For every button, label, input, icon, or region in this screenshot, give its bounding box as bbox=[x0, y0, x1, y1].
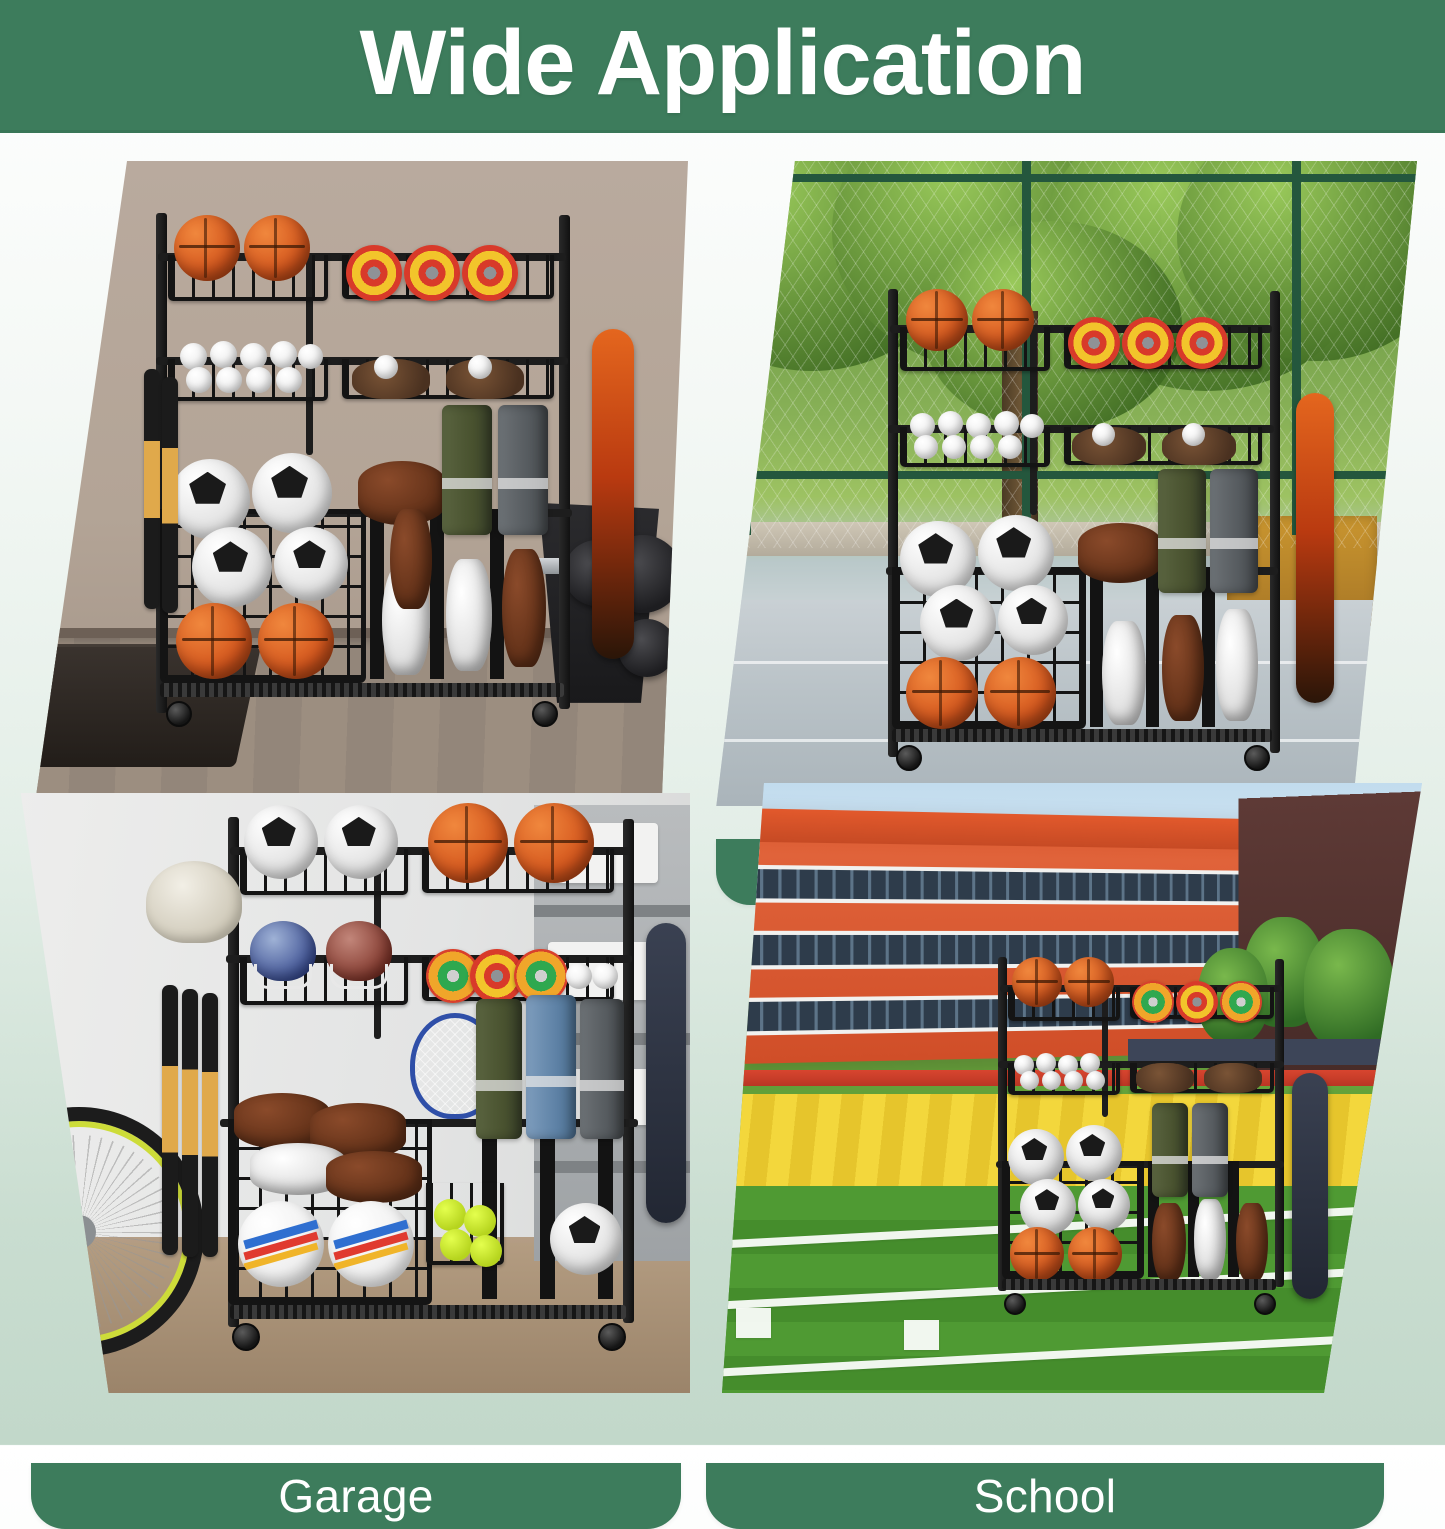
soccer-ball bbox=[274, 527, 348, 601]
baseball bbox=[914, 435, 938, 459]
flying-disc bbox=[404, 245, 460, 301]
caster-wheel bbox=[532, 701, 558, 727]
helmet-facemask bbox=[330, 964, 388, 989]
panel-label-text: Garage bbox=[278, 1469, 433, 1523]
baseball bbox=[216, 367, 242, 393]
yoga-mat bbox=[442, 405, 492, 535]
bin-divider bbox=[1146, 567, 1159, 727]
panel-school-photo bbox=[722, 783, 1422, 1393]
basketball bbox=[984, 657, 1056, 729]
yoga-mat bbox=[580, 999, 624, 1139]
baseball-bat bbox=[202, 993, 218, 1257]
baseball bbox=[186, 367, 212, 393]
skateboard bbox=[1296, 393, 1334, 703]
football bbox=[1162, 615, 1204, 721]
soccer-ball bbox=[978, 515, 1054, 591]
caster-wheel bbox=[896, 745, 922, 771]
baseball bbox=[298, 344, 323, 369]
fence-rail bbox=[702, 174, 1417, 182]
bin-divider bbox=[540, 1119, 555, 1299]
baseball bbox=[1064, 1071, 1083, 1090]
tennis-ball bbox=[464, 1205, 496, 1237]
yard-line bbox=[736, 1308, 771, 1338]
caster-wheel bbox=[1244, 745, 1270, 771]
skateboard bbox=[1292, 1073, 1328, 1299]
sports-storage-rack bbox=[990, 953, 1290, 1299]
baseball bbox=[270, 341, 297, 368]
basketball bbox=[972, 289, 1034, 351]
skateboard bbox=[592, 329, 634, 659]
panel-garage-photo bbox=[14, 793, 690, 1393]
basketball bbox=[428, 803, 508, 883]
match-soccer-ball bbox=[328, 1201, 414, 1287]
baseball-bat bbox=[162, 377, 178, 613]
panel-school[interactable] bbox=[722, 783, 1422, 1393]
rack-bottom-tray bbox=[160, 683, 564, 697]
baseball bbox=[1182, 423, 1205, 446]
baseball bbox=[942, 435, 966, 459]
baseball bbox=[276, 367, 302, 393]
flying-disc bbox=[1068, 317, 1120, 369]
skateboard bbox=[646, 923, 686, 1223]
baseball bbox=[998, 435, 1022, 459]
baseball bbox=[210, 341, 237, 368]
bin-divider bbox=[1090, 567, 1103, 727]
baseball bbox=[592, 963, 618, 989]
caster-wheel bbox=[1254, 1293, 1276, 1315]
football bbox=[1102, 621, 1146, 725]
soccer-ball bbox=[1066, 1125, 1122, 1181]
football bbox=[1236, 1203, 1268, 1281]
match-soccer-ball bbox=[238, 1201, 324, 1287]
panel-home-gym[interactable] bbox=[28, 161, 688, 806]
baseball bbox=[1042, 1071, 1061, 1090]
soccer-ball bbox=[1078, 1179, 1130, 1231]
baseball bbox=[910, 413, 935, 438]
rack-bottom-tray bbox=[230, 1305, 626, 1319]
flying-disc bbox=[1176, 317, 1228, 369]
tennis-ball bbox=[440, 1229, 472, 1261]
yoga-mat bbox=[476, 999, 522, 1139]
baseball bbox=[180, 343, 207, 370]
tennis-ball bbox=[470, 1235, 502, 1267]
baseball bbox=[1020, 414, 1044, 438]
soccer-ball bbox=[192, 527, 272, 607]
application-panel-grid: Home Gym bbox=[0, 133, 1445, 1445]
helmet-facemask bbox=[254, 964, 312, 989]
rack-upright-right bbox=[1275, 959, 1284, 1287]
football bbox=[1152, 1203, 1186, 1281]
baseball bbox=[240, 343, 267, 370]
basketball bbox=[1068, 1227, 1122, 1281]
sports-storage-rack bbox=[146, 209, 576, 729]
baseball-glove bbox=[1204, 1063, 1262, 1093]
soccer-ball bbox=[324, 805, 398, 879]
baseball bbox=[566, 963, 592, 989]
flying-disc bbox=[462, 245, 518, 301]
sports-storage-rack bbox=[880, 285, 1286, 773]
soccer-ball bbox=[1008, 1129, 1064, 1185]
yoga-mat bbox=[526, 995, 576, 1139]
sports-storage-rack bbox=[214, 803, 644, 1343]
bin-divider bbox=[370, 509, 384, 679]
rack-bottom-tray bbox=[1002, 1279, 1276, 1290]
baseball bbox=[1086, 1071, 1105, 1090]
baseball bbox=[1080, 1053, 1100, 1073]
basketball bbox=[906, 289, 968, 351]
panel-label-school: School bbox=[706, 1463, 1384, 1529]
caster-wheel bbox=[166, 701, 192, 727]
caster-wheel bbox=[598, 1323, 626, 1351]
basketball bbox=[174, 215, 240, 281]
flying-disc bbox=[1132, 981, 1174, 1023]
football bbox=[502, 549, 546, 667]
flying-disc bbox=[1122, 317, 1174, 369]
baseball bbox=[1092, 423, 1115, 446]
yoga-mat bbox=[498, 405, 548, 535]
yoga-mat bbox=[1210, 469, 1258, 593]
baseball bbox=[374, 355, 398, 379]
panel-label-text: School bbox=[974, 1469, 1116, 1523]
flying-disc bbox=[346, 245, 402, 301]
football bbox=[1194, 1199, 1226, 1279]
panel-garage[interactable] bbox=[14, 793, 690, 1393]
baseball bbox=[966, 413, 991, 438]
soccer-ball bbox=[252, 453, 332, 533]
panel-outdoor-photo bbox=[702, 161, 1417, 806]
football bbox=[1216, 609, 1258, 721]
soccer-ball bbox=[550, 1203, 622, 1275]
soccer-ball bbox=[244, 805, 318, 879]
baseball bbox=[468, 355, 492, 379]
basketball bbox=[1064, 957, 1114, 1007]
football bbox=[390, 509, 432, 609]
baseball bbox=[1036, 1053, 1056, 1073]
basketball bbox=[514, 803, 594, 883]
football bbox=[446, 559, 492, 671]
caster-wheel bbox=[232, 1323, 260, 1351]
wheel-hub bbox=[62, 1215, 96, 1249]
basketball bbox=[1012, 957, 1062, 1007]
baseball-bat bbox=[182, 989, 198, 1257]
baseball-bat bbox=[144, 369, 160, 609]
baseball bbox=[246, 367, 272, 393]
rack-upright-right bbox=[559, 215, 570, 709]
football bbox=[326, 1151, 422, 1203]
rack-upright-right bbox=[1270, 291, 1280, 753]
baseball bbox=[994, 411, 1019, 436]
panel-outdoor[interactable] bbox=[702, 161, 1417, 806]
yoga-mat bbox=[1152, 1103, 1188, 1197]
basketball bbox=[1010, 1227, 1064, 1281]
flying-disc bbox=[1176, 981, 1218, 1023]
tennis-ball bbox=[434, 1199, 466, 1231]
rack-upright-right bbox=[623, 819, 634, 1323]
football-helmet bbox=[250, 921, 316, 981]
window-band bbox=[745, 864, 1264, 905]
panel-home-gym-photo bbox=[28, 161, 688, 806]
soccer-ball bbox=[920, 585, 996, 661]
panel-label-garage: Garage bbox=[31, 1463, 681, 1529]
basketball bbox=[176, 603, 252, 679]
yoga-mat bbox=[1158, 469, 1206, 593]
basketball bbox=[906, 657, 978, 729]
soccer-ball bbox=[1020, 1179, 1076, 1235]
bin-divider bbox=[430, 509, 444, 679]
football bbox=[1078, 523, 1162, 583]
baseball-cap bbox=[146, 861, 242, 943]
baseball bbox=[938, 411, 963, 436]
page-header: Wide Application bbox=[0, 0, 1445, 133]
baseball-glove bbox=[1136, 1063, 1194, 1093]
basketball bbox=[244, 215, 310, 281]
yoga-mat bbox=[1192, 1103, 1228, 1197]
baseball bbox=[1020, 1071, 1039, 1090]
football-helmet bbox=[326, 921, 392, 981]
yard-line bbox=[904, 1320, 939, 1350]
tree bbox=[1304, 929, 1394, 1049]
caster-wheel bbox=[1004, 1293, 1026, 1315]
fence-post bbox=[742, 161, 751, 535]
rack-bottom-tray bbox=[892, 729, 1272, 742]
baseball-bat bbox=[162, 985, 178, 1255]
page-title: Wide Application bbox=[360, 17, 1086, 109]
soccer-ball bbox=[998, 585, 1068, 655]
flying-disc bbox=[1220, 981, 1262, 1023]
baseball bbox=[970, 435, 994, 459]
basketball bbox=[258, 603, 334, 679]
